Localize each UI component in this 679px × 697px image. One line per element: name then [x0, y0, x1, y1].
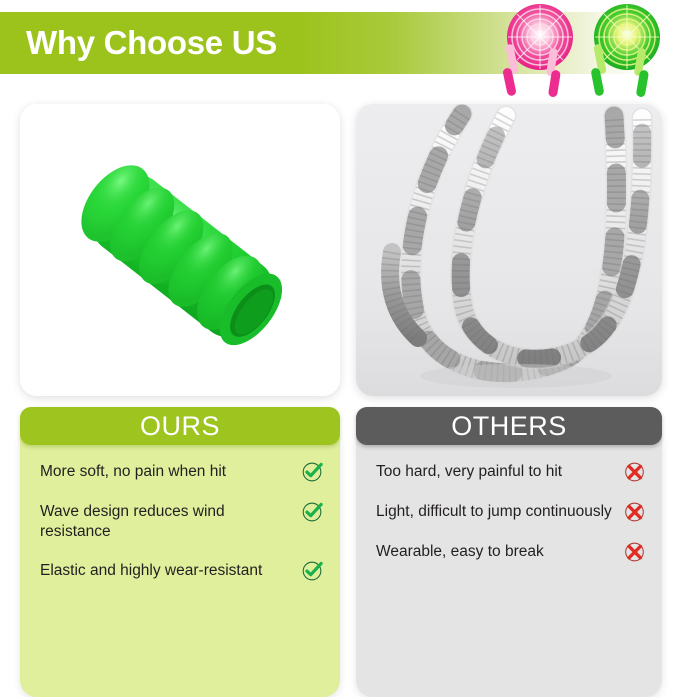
comparison-column-others: OTHERS Too hard, very painful to hit Lig…	[356, 104, 662, 697]
green-coiled-jump-rope	[590, 4, 660, 98]
feature-item: Wave design reduces wind resistance	[40, 501, 326, 542]
feature-item: Light, difficult to jump continuously	[376, 501, 648, 523]
gray-beaded-jump-ropes-photo	[356, 104, 662, 396]
feature-text: Wearable, easy to break	[376, 541, 623, 562]
check-circle-icon	[301, 559, 324, 582]
feature-item: Wearable, easy to break	[376, 541, 648, 563]
cross-circle-icon	[623, 540, 646, 563]
feature-text: Too hard, very painful to hit	[376, 461, 623, 482]
cross-circle-icon	[623, 500, 646, 523]
panel-header-others: OTHERS	[356, 407, 662, 445]
check-circle-icon	[301, 500, 324, 523]
feature-text: More soft, no pain when hit	[40, 461, 301, 482]
panel-title-ours: OURS	[140, 411, 220, 442]
check-circle-icon	[301, 460, 324, 483]
feature-item: Too hard, very painful to hit	[376, 461, 648, 483]
feature-text: Elastic and highly wear-resistant	[40, 560, 301, 581]
page-title: Why Choose US	[26, 24, 277, 62]
feature-text: Wave design reduces wind resistance	[40, 501, 301, 542]
ours-photo-card	[20, 104, 340, 396]
feature-item: More soft, no pain when hit	[40, 461, 326, 483]
panel-title-others: OTHERS	[451, 411, 567, 442]
pink-coiled-jump-rope	[502, 4, 573, 98]
feature-text: Light, difficult to jump continuously	[376, 501, 623, 522]
green-wavy-silicone-handle-sleeve-photo	[20, 104, 340, 396]
cross-circle-icon	[623, 460, 646, 483]
panel-header-ours: OURS	[20, 407, 340, 445]
feature-item: Elastic and highly wear-resistant	[40, 560, 326, 582]
feature-list-ours: More soft, no pain when hit Wave design …	[20, 437, 340, 697]
others-photo-card	[356, 104, 662, 396]
jump-ropes-illustration	[492, 0, 679, 98]
feature-list-others: Too hard, very painful to hit Light, dif…	[356, 437, 662, 697]
comparison-column-ours: OURS More soft, no pain when hit Wave de…	[20, 104, 340, 697]
